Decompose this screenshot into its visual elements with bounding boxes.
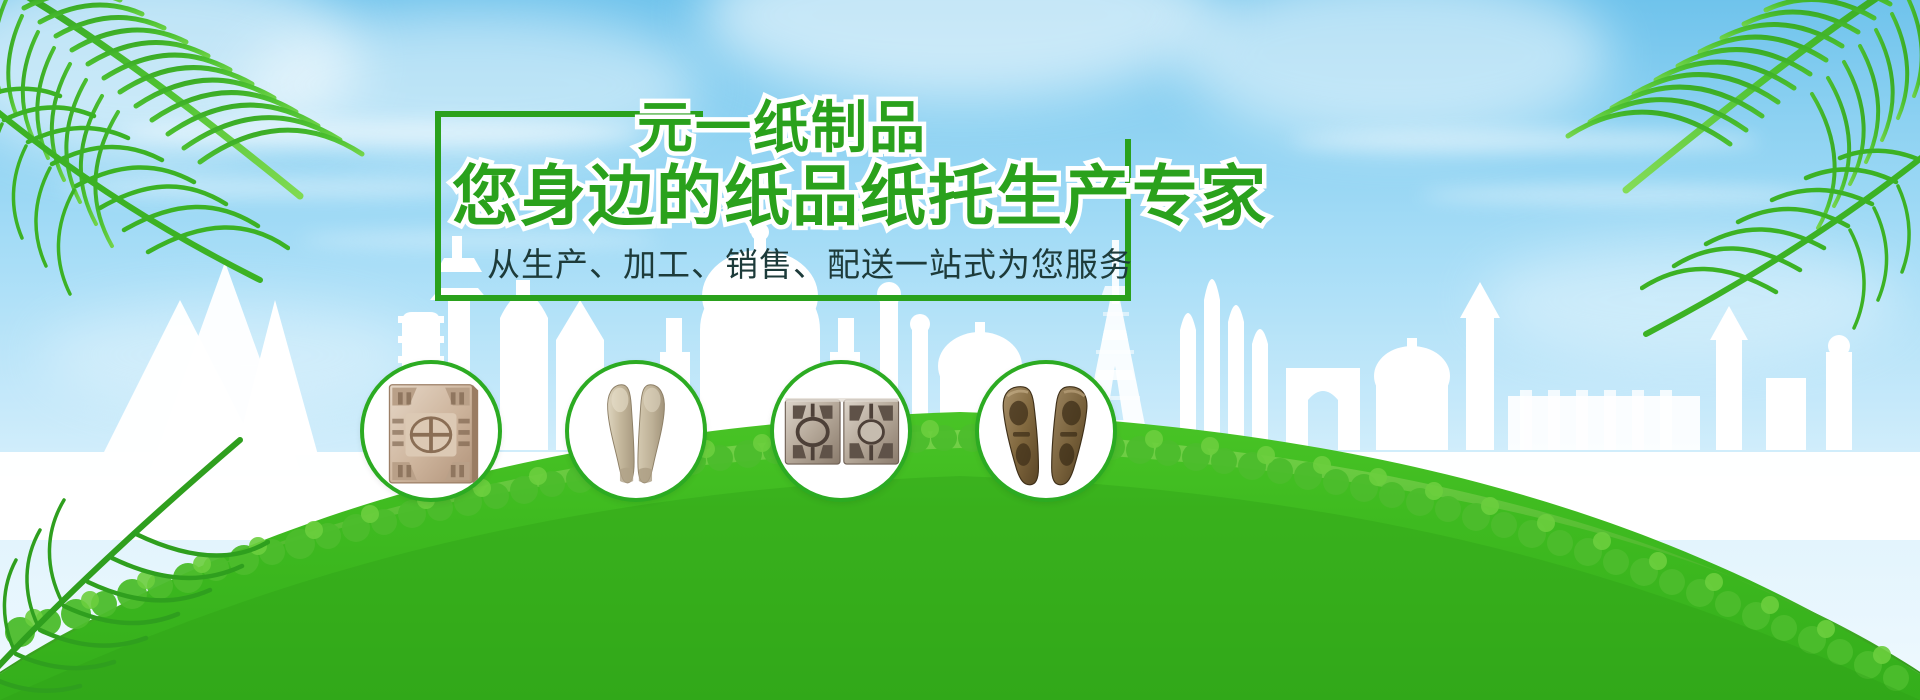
palm-frond-icon-left-lower <box>0 80 290 310</box>
headline-line-2: 您身边的纸品纸托生产专家 <box>452 163 1268 229</box>
palm-frond-icon-bottom-left <box>0 430 270 700</box>
grass-hill-shape <box>0 280 1920 700</box>
product-circle-2[interactable] <box>565 360 707 502</box>
square-pulp-tray-icon <box>364 364 498 498</box>
headline-line-1: 元一纸制品 <box>637 100 927 156</box>
promo-banner: 元一纸制品 您身边的纸品纸托生产专家 从生产、加工、销售、配送一站式为您服务 <box>0 0 1920 700</box>
product-circle-4[interactable] <box>975 360 1117 502</box>
palm-frond-icon-right-lower <box>1640 140 1920 360</box>
dark-shoe-tray-pair-icon <box>979 364 1113 498</box>
product-circle-1[interactable] <box>360 360 502 502</box>
double-pulp-tray-icon <box>774 364 908 498</box>
banner-subtitle: 从生产、加工、销售、配送一站式为您服务 <box>487 238 1387 286</box>
product-circle-3[interactable] <box>770 360 912 502</box>
shoe-insole-pair-icon <box>569 364 703 498</box>
